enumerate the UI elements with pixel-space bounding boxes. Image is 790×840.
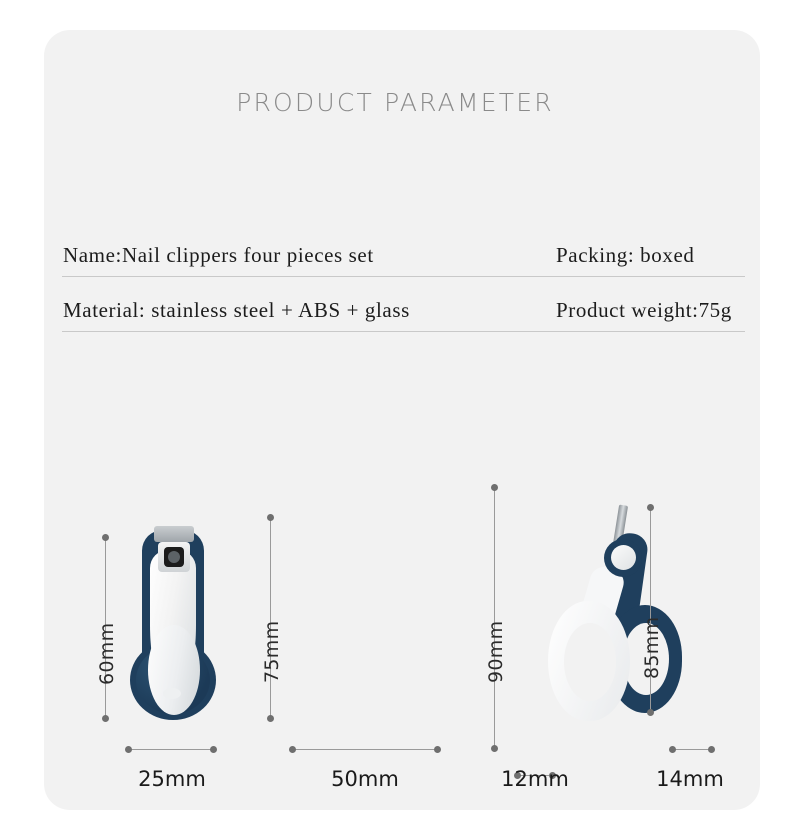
product-parameter-page: PRODUCT PARAMETER Name:Nail clippers fou…	[0, 0, 790, 840]
page-title: PRODUCT PARAMETER	[0, 88, 790, 117]
product-tweezers: 85mm 14mm	[630, 455, 790, 815]
height-dimension-line	[270, 517, 271, 719]
dimension-dot	[102, 534, 109, 541]
width-dimension-line	[128, 749, 216, 750]
width-label: 25mm	[112, 767, 232, 791]
dimension-dot	[289, 746, 296, 753]
height-label: 90mm	[485, 621, 507, 683]
dimension-dot	[267, 715, 274, 722]
clipper-plate-lower	[148, 625, 200, 715]
height-label: 75mm	[261, 621, 283, 683]
nail-clipper-image	[118, 530, 228, 720]
product-nail-scissors: 75mm 50mm	[250, 455, 470, 815]
height-label: 60mm	[96, 623, 118, 685]
dimension-dot	[491, 484, 498, 491]
clipper-pivot-center	[168, 551, 180, 563]
dimension-dot	[669, 746, 676, 753]
product-nail-clipper: 60mm 25mm	[0, 455, 250, 815]
clipper-keyring-hole	[163, 688, 181, 699]
height-label: 85mm	[641, 617, 663, 679]
spec-row-divider	[62, 331, 745, 332]
dimension-dot	[647, 504, 654, 511]
width-label: 14mm	[630, 767, 750, 791]
width-dimension-line	[672, 749, 712, 750]
dimension-dot	[647, 709, 654, 716]
spec-name-value: Name:Nail clippers four pieces set	[63, 243, 374, 268]
dimension-dot	[267, 514, 274, 521]
clipper-metal-lever	[154, 526, 194, 542]
width-label: 12mm	[475, 767, 595, 791]
dimension-dot	[434, 746, 441, 753]
dimension-dot	[102, 715, 109, 722]
spec-table: Name:Nail clippers four pieces set Packi…	[62, 222, 750, 332]
dimension-dot	[708, 746, 715, 753]
height-dimension-line	[650, 507, 651, 713]
spec-packing-value: Packing: boxed	[556, 243, 694, 268]
spec-row: Name:Nail clippers four pieces set Packi…	[62, 222, 750, 277]
product-gallery: 60mm 25mm 75mm	[0, 455, 790, 815]
width-label: 50mm	[305, 767, 425, 791]
spec-material-value: Material: stainless steel + ABS + glass	[63, 298, 410, 323]
width-dimension-line	[292, 749, 438, 750]
spec-row: Material: stainless steel + ABS + glass …	[62, 277, 750, 332]
dimension-dot	[125, 746, 132, 753]
spec-weight-value: Product weight:75g	[556, 298, 732, 323]
dimension-dot	[210, 746, 217, 753]
height-dimension-line	[494, 487, 495, 749]
product-nail-file: 90mm 12mm	[470, 455, 630, 815]
dimension-dot	[491, 745, 498, 752]
